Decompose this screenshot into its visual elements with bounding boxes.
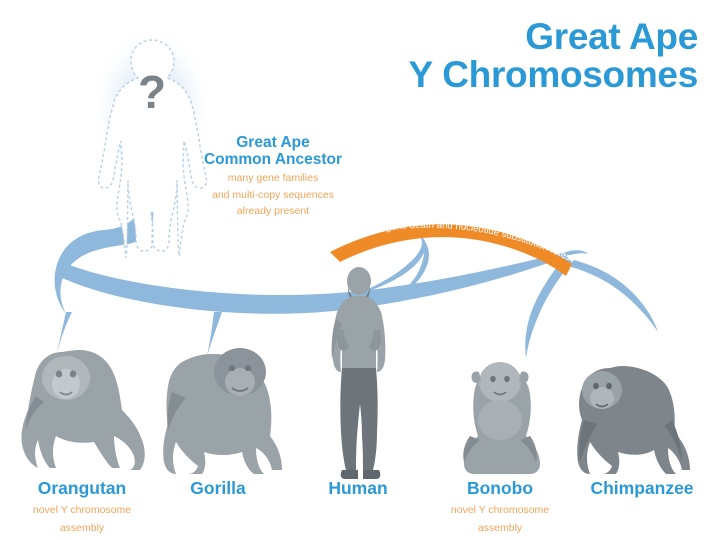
ancestor-sub-line-1: many gene families: [178, 172, 368, 186]
species-sub-line-1: novel Y chromosome: [410, 503, 590, 517]
branch-chimpanzee: [568, 260, 658, 332]
question-mark-icon: ?: [138, 66, 166, 118]
chimpanzee-silhouette-icon: [577, 366, 690, 474]
ancestor-sub-line-2: and multi-copy sequences: [178, 189, 368, 203]
species-sub-line-2: assembly: [410, 521, 590, 535]
page-title: Great Ape Y Chromosomes: [409, 18, 698, 95]
title-line-2: Y Chromosomes: [409, 56, 698, 94]
species-name: Chimpanzee: [552, 478, 720, 499]
species-label-chimpanzee: Chimpanzee: [552, 478, 720, 499]
species-sub-line-2: assembly: [0, 521, 172, 535]
species-silhouettes: [21, 267, 690, 479]
ancestor-title-line-2: Common Ancestor: [178, 151, 368, 168]
gorilla-silhouette-icon: [163, 348, 282, 474]
ancestor-label: Great Ape Common Ancestor many gene fami…: [178, 134, 368, 219]
infographic-canvas: accelerated gene death and nucleotide su…: [0, 0, 720, 540]
title-line-1: Great Ape: [409, 18, 698, 56]
accelerated-rate-banner: accelerated gene death and nucleotide su…: [330, 220, 573, 276]
orangutan-silhouette-icon: [21, 350, 144, 470]
ancestor-sub-line-3: already present: [178, 205, 368, 219]
ancestor-title-line-1: Great Ape: [178, 134, 368, 151]
species-sub-line-1: novel Y chromosome: [0, 503, 172, 517]
bonobo-silhouette-icon: [463, 362, 540, 474]
branch-backbone: [58, 250, 588, 314]
branch-gorilla: [207, 312, 222, 356]
